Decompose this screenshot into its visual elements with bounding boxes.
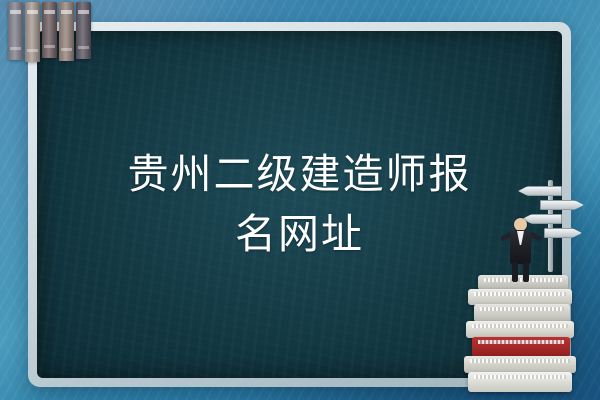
stacked-book: [464, 356, 576, 373]
stacked-book-red: [472, 337, 570, 357]
book-spine: [42, 2, 57, 58]
figure-leg-right: [523, 262, 529, 282]
stacked-book: [466, 321, 574, 338]
books-row: [6, 2, 94, 64]
figure-leg-left: [512, 262, 518, 282]
stacked-book: [468, 372, 572, 392]
stacked-book: [474, 304, 570, 322]
person-figure: [498, 218, 544, 282]
book-spine: [76, 2, 91, 59]
page-title: 贵州二级建造师报名网址: [100, 145, 500, 264]
stacked-book: [468, 289, 572, 305]
book-spine: [25, 2, 40, 62]
signpost-arrow: [544, 228, 582, 238]
signpost-arrow: [518, 186, 562, 196]
signpost-arrow: [540, 200, 584, 210]
book-spine: [59, 2, 74, 61]
book-spine: [8, 2, 23, 60]
image-canvas: 贵州二级建造师报名网址: [0, 0, 600, 400]
